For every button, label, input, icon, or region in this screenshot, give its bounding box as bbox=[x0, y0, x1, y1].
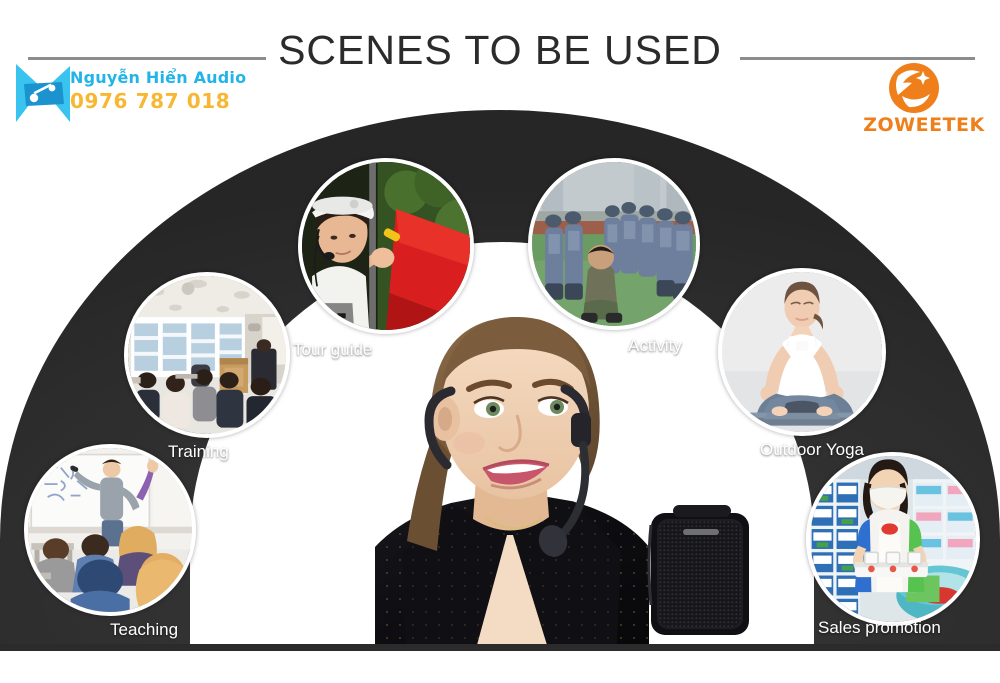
voice-amplifier-speaker bbox=[649, 505, 749, 635]
vendor-name: Nguyễn Hiển Audio bbox=[70, 68, 246, 88]
sales-promotion-photo-illustration bbox=[810, 456, 976, 622]
teaching-photo-illustration bbox=[28, 448, 192, 612]
zoweetek-circle-z-icon bbox=[886, 62, 942, 114]
page-title: SCENES TO BE USED bbox=[255, 27, 745, 74]
bottom-bar bbox=[0, 644, 1000, 651]
scene-label-sales-promotion: Sales promotion bbox=[818, 618, 941, 638]
scene-photo-teaching[interactable] bbox=[24, 444, 196, 616]
scene-label-teaching: Teaching bbox=[110, 620, 178, 640]
title-rule-right bbox=[740, 57, 975, 60]
vendor-text-block: Nguyễn Hiển Audio 0976 787 018 bbox=[70, 68, 246, 114]
scene-photo-sales-promotion[interactable] bbox=[806, 452, 980, 626]
title-rule-left bbox=[28, 57, 266, 60]
poster-canvas: SCENES TO BE USED Nguyễn Hiển Audio 0976… bbox=[0, 0, 1000, 683]
hero-presenter-illustration bbox=[255, 285, 775, 645]
